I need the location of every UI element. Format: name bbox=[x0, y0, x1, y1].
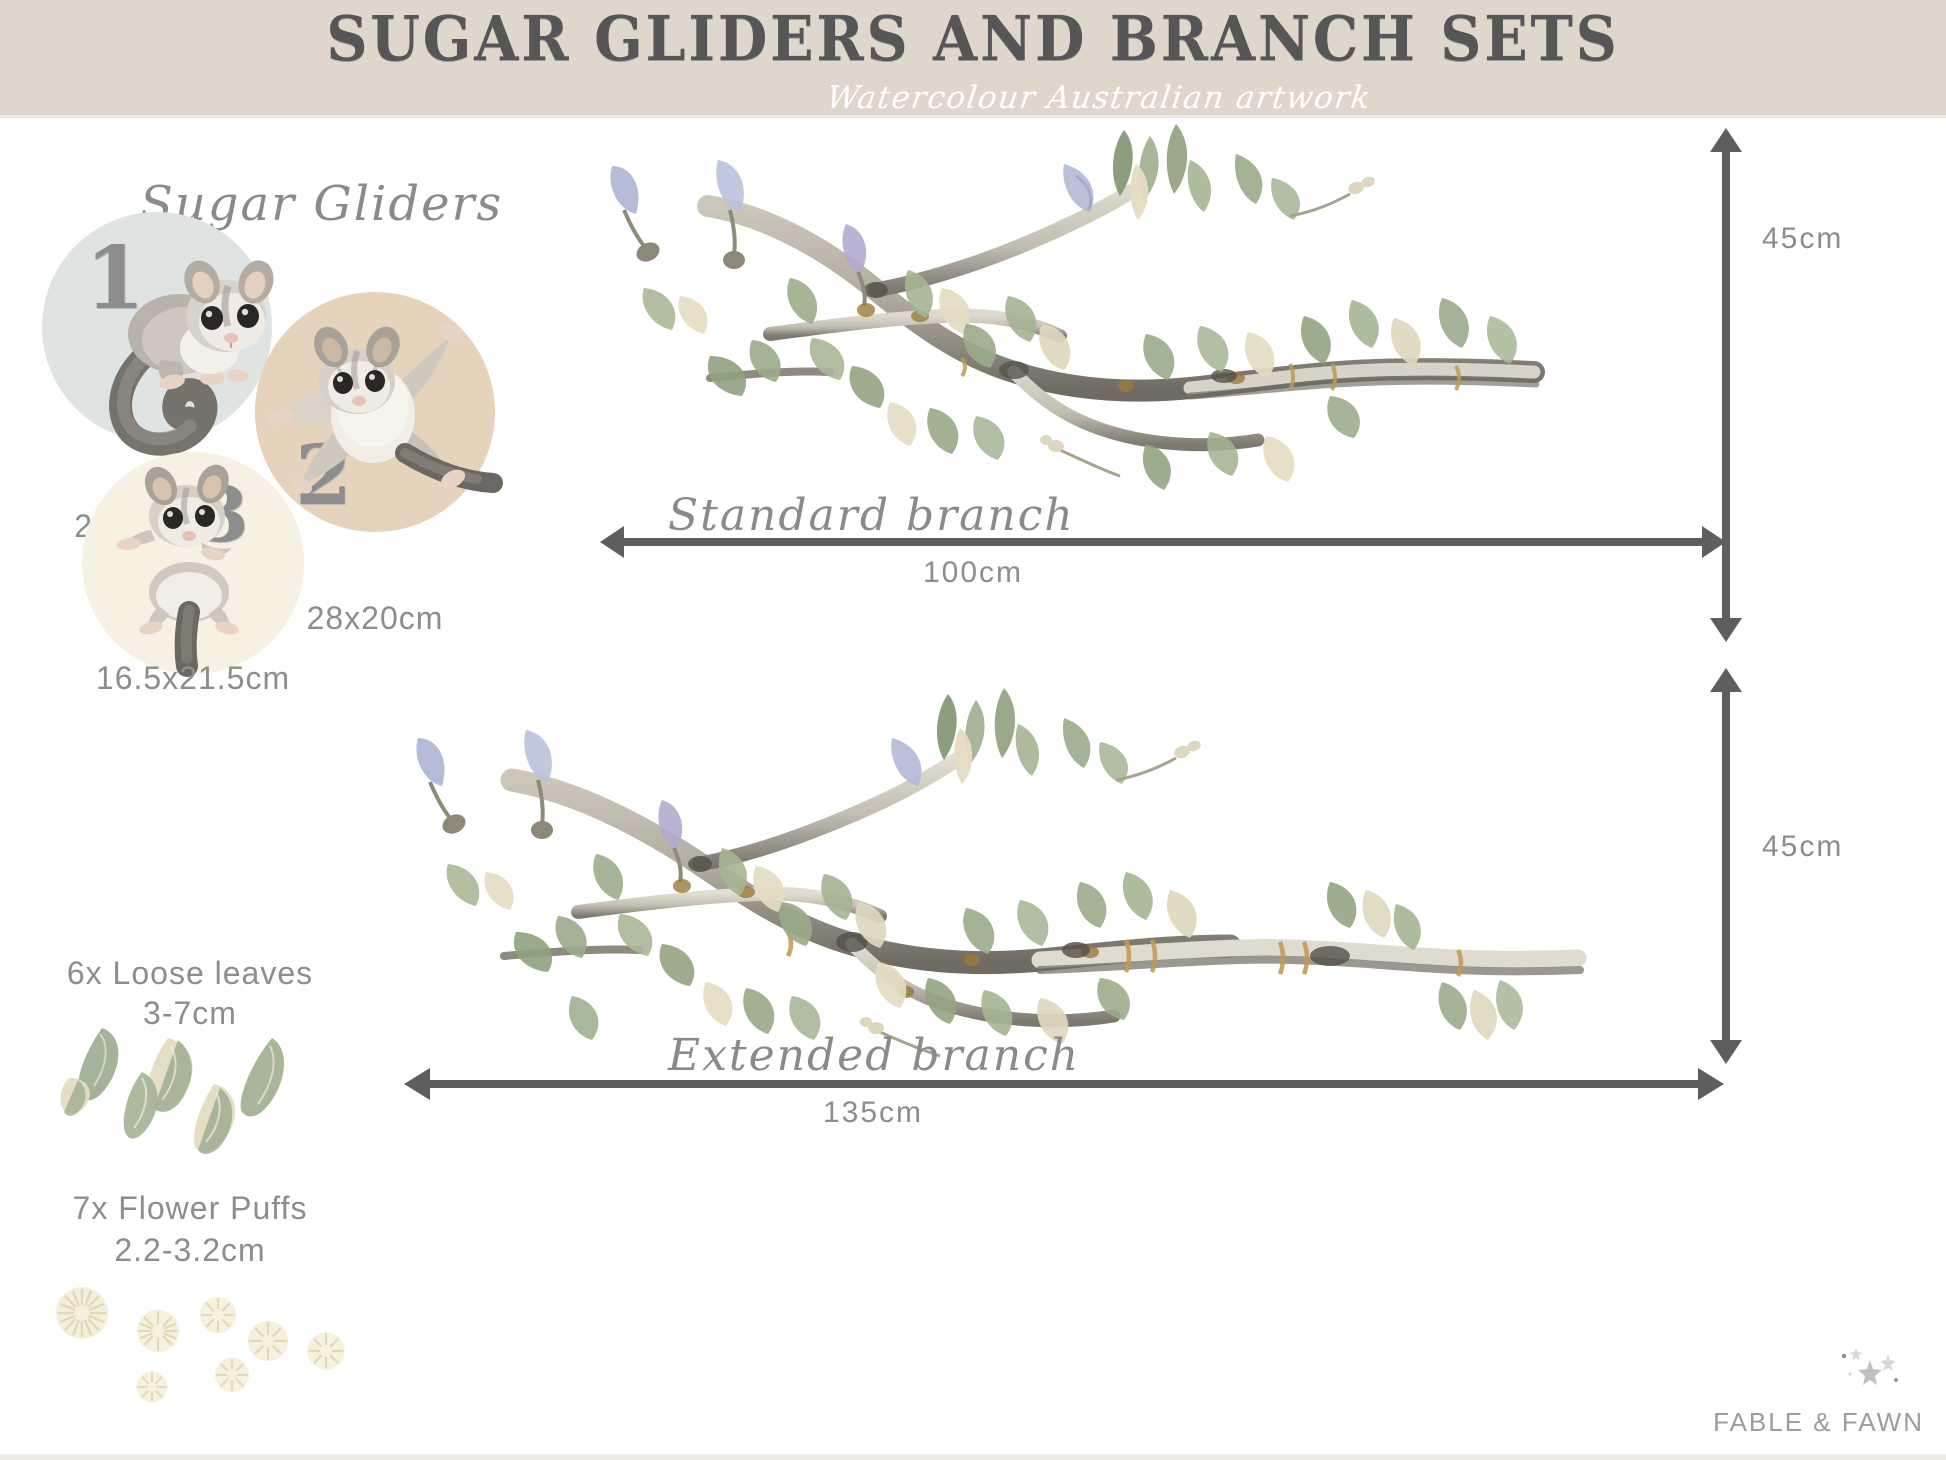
flower-puffs-size: 2.2-3.2cm bbox=[30, 1232, 350, 1269]
extended-branch-caption: Extended branch bbox=[668, 1030, 1080, 1081]
page-title: SUGAR GLIDERS AND BRANCH SETS bbox=[78, 8, 1868, 70]
standard-branch-illustration bbox=[590, 120, 1620, 500]
standard-height-label: 45cm bbox=[1762, 222, 1843, 256]
flower-puffs-label: 7x Flower Puffs bbox=[30, 1190, 350, 1227]
standard-branch-caption: Standard branch bbox=[668, 490, 1075, 541]
glider-size-3: 16.5x21.5cm bbox=[62, 660, 324, 697]
page-subtitle: Watercolour Australian artwork bbox=[824, 80, 1373, 116]
extended-width-label: 135cm bbox=[0, 1096, 1746, 1130]
standard-height-arrow-bottom-head bbox=[1710, 618, 1742, 642]
extended-height-label: 45cm bbox=[1762, 830, 1843, 864]
standard-width-arrow-left-head bbox=[600, 526, 624, 558]
extended-height-arrow-bottom-head bbox=[1710, 1040, 1742, 1064]
extended-branch-illustration bbox=[400, 660, 1620, 1060]
star-cluster-icon bbox=[1826, 1346, 1906, 1398]
standard-height-arrow-top-head bbox=[1710, 128, 1742, 152]
flower-puffs-illustration bbox=[40, 1275, 340, 1400]
extended-width-arrow-line bbox=[428, 1080, 1700, 1088]
standard-width-label: 100cm bbox=[0, 556, 1946, 590]
footer-rule bbox=[0, 1454, 1946, 1460]
extended-height-arrow-top-head bbox=[1710, 668, 1742, 692]
loose-leaves-illustration bbox=[50, 1020, 350, 1150]
standard-height-arrow-line bbox=[1722, 150, 1730, 620]
brand-logo: FABLE & FAWN bbox=[1713, 1407, 1924, 1438]
standard-width-arrow-line bbox=[622, 538, 1704, 546]
loose-leaves-label: 6x Loose leaves bbox=[30, 955, 350, 992]
extended-height-arrow-line bbox=[1722, 690, 1730, 1042]
